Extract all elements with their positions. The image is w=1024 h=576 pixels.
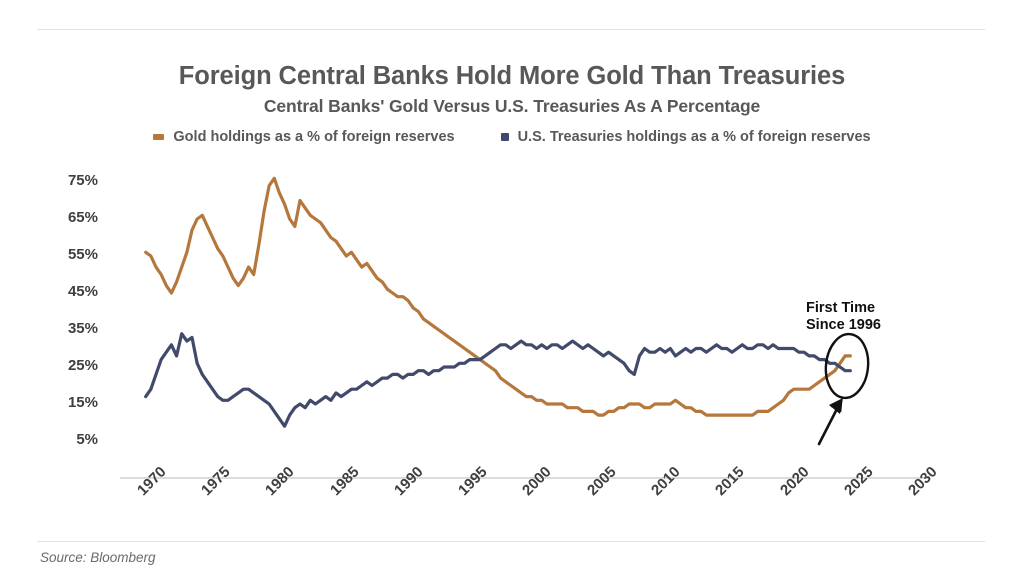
annotation-line-2: Since 1996 [806, 317, 881, 334]
x-axis-tick: 2015 [712, 463, 748, 499]
x-axis-tick: 1985 [327, 463, 363, 499]
series-line-treasuries [146, 334, 851, 427]
y-axis-tick: 35% [38, 320, 98, 337]
x-axis-tick: 1980 [262, 463, 298, 499]
annotation-arrow [819, 401, 841, 444]
x-axis-tick: 2020 [777, 463, 813, 499]
y-axis-tick: 75% [38, 172, 98, 189]
series-line-gold [146, 178, 851, 415]
source-label: Source: Bloomberg [40, 550, 156, 565]
y-axis-tick: 25% [38, 357, 98, 374]
y-axis-tick: 55% [38, 246, 98, 263]
annotation-ellipse [823, 332, 871, 400]
bottom-divider [37, 541, 985, 542]
x-axis-tick: 2005 [584, 463, 620, 499]
x-axis-tick: 2010 [648, 463, 684, 499]
x-axis-tick: 2030 [905, 463, 941, 499]
x-axis-tick: 1975 [198, 463, 234, 499]
x-axis-tick: 2000 [519, 463, 555, 499]
chart-plot-area: 5%15%25%35%45%55%65%75% 1970197519801985… [0, 0, 1024, 576]
chart-annotation: First Time Since 1996 [806, 300, 881, 334]
y-axis-tick: 65% [38, 209, 98, 226]
y-axis-tick: 15% [38, 394, 98, 411]
annotation-arrowhead [829, 398, 843, 414]
x-axis-tick: 1970 [134, 463, 170, 499]
y-axis-tick: 45% [38, 283, 98, 300]
y-axis-tick: 5% [38, 431, 98, 448]
x-axis-tick: 1995 [455, 463, 491, 499]
x-axis-tick: 1990 [391, 463, 427, 499]
annotation-line-1: First Time [806, 300, 881, 317]
x-axis-tick: 2025 [841, 463, 877, 499]
